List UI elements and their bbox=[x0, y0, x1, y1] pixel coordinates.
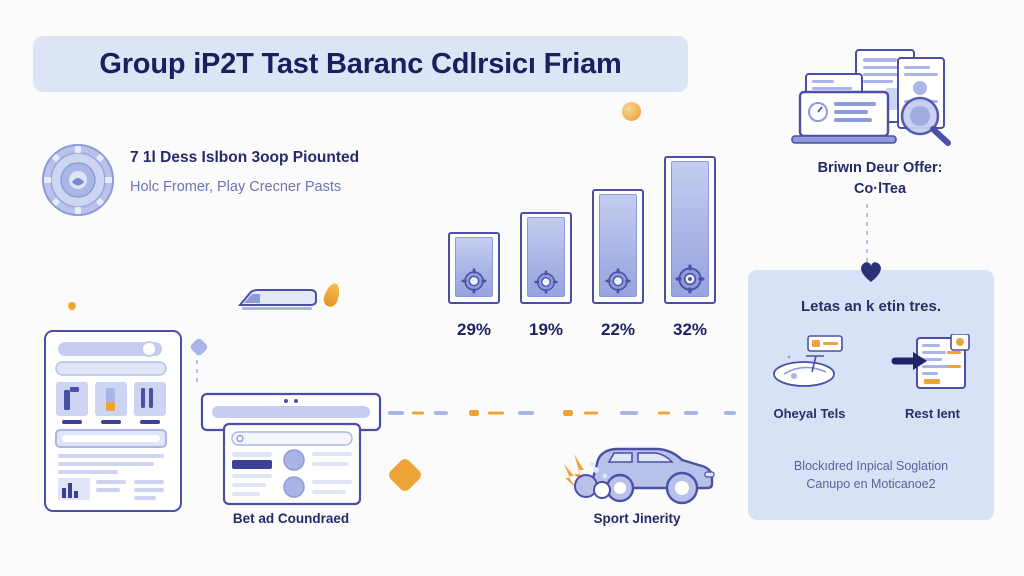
panel-item-oheyal-tels[interactable]: Oheyal Tels bbox=[748, 334, 871, 421]
gear-icon bbox=[460, 267, 488, 300]
bar-value-label: 19% bbox=[513, 320, 579, 340]
car-card-caption: Sport Jinerity bbox=[556, 511, 718, 526]
gear-icon bbox=[533, 269, 559, 300]
bar-value-label: 32% bbox=[657, 320, 723, 340]
panel-item-rest-ient[interactable]: Rest Ient bbox=[871, 334, 994, 421]
document-arrow-icon bbox=[891, 334, 975, 397]
bar-value-label: 29% bbox=[441, 320, 507, 340]
lead-subtitle: Holc Fromer, Play Crecner Pasts bbox=[130, 177, 360, 199]
heart-icon bbox=[858, 259, 884, 283]
gear-icon bbox=[604, 267, 632, 300]
orange-dot bbox=[68, 302, 76, 310]
cluster-caption: Briwın Deur Offer: Co·lTea bbox=[762, 158, 998, 199]
info-panel: Letas an k etin tres. bbox=[748, 270, 994, 520]
diamond-icon bbox=[387, 457, 424, 494]
lead-title: 7 1l Dess Islbon 3oop Piounted bbox=[130, 148, 360, 168]
panel-item-label: Rest Ient bbox=[905, 406, 960, 421]
laptop-documents-magnifier-icon bbox=[786, 44, 972, 148]
window-card-caption: Bet ad Coundraed bbox=[200, 511, 382, 526]
cluster-caption-line2: Co·lTea bbox=[762, 179, 998, 200]
train-icon bbox=[236, 283, 320, 313]
panel-footer-line2: Canupo en Moticanoe2 bbox=[748, 475, 994, 494]
panel-item-label: Oheyal Tels bbox=[773, 406, 845, 421]
panel-item-row: Oheyal Tels bbox=[748, 334, 994, 421]
bar-chart: 29% 19% bbox=[437, 140, 727, 340]
browser-window-icon[interactable] bbox=[200, 390, 382, 508]
blue-dot bbox=[189, 337, 209, 357]
panel-heading: Letas an k etin tres. bbox=[748, 298, 994, 315]
connector-line bbox=[388, 403, 740, 407]
panel-footer-line1: Blockıdred Inpical Soglation bbox=[748, 457, 994, 476]
vehicle-scan-icon bbox=[768, 334, 852, 397]
lead-text-block: 7 1l Dess Islbon 3oop Piounted Holc From… bbox=[130, 148, 360, 199]
bar-value-label: 22% bbox=[585, 320, 651, 340]
flame-icon bbox=[322, 281, 343, 308]
panel-footer: Blockıdred Inpical Soglation Canupo en M… bbox=[748, 457, 994, 495]
circular-seal-icon bbox=[36, 138, 120, 222]
cluster-caption-line1: Briwın Deur Offer: bbox=[762, 158, 998, 179]
page-title-banner: Group iP2T Tast Baranc Cdlrsicı Friam bbox=[33, 36, 688, 92]
car-collision-icon bbox=[562, 424, 718, 508]
infographic-canvas: Group iP2T Tast Baranc Cdlrsicı Friam 7 … bbox=[0, 0, 1024, 576]
vertical-dash-connector bbox=[866, 204, 868, 266]
gear-icon bbox=[674, 263, 706, 300]
report-document-icon[interactable] bbox=[44, 330, 182, 512]
page-title: Group iP2T Tast Baranc Cdlrsicı Friam bbox=[99, 48, 621, 81]
coin-icon bbox=[622, 102, 641, 121]
